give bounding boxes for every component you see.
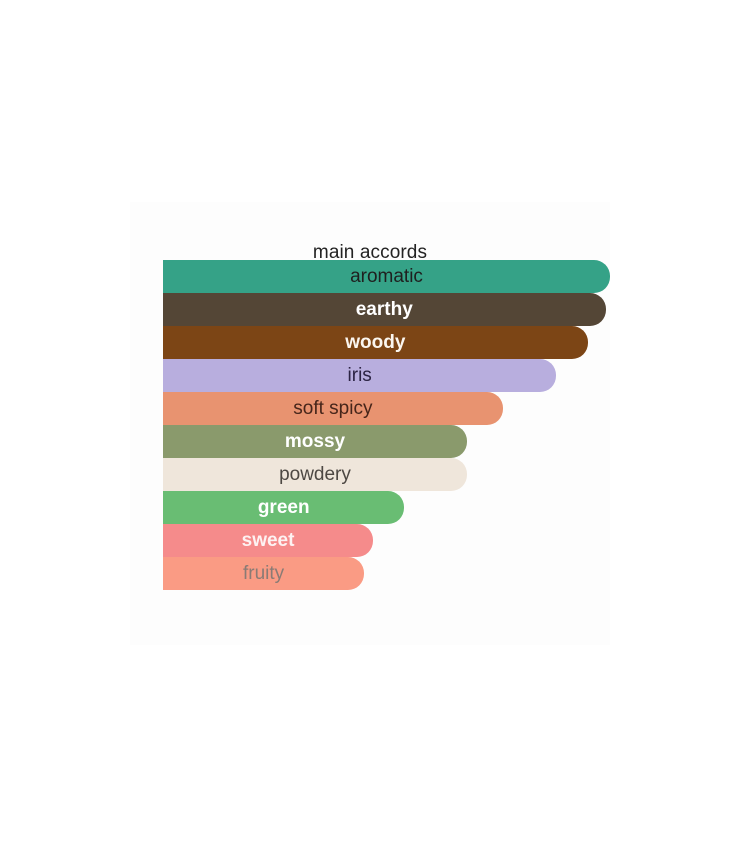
accord-bar[interactable]: earthy <box>163 293 606 326</box>
accord-bar[interactable]: soft spicy <box>163 392 503 425</box>
accord-bar-label: soft spicy <box>293 399 372 418</box>
accord-row: fruity <box>163 557 610 590</box>
main-accords-card: main accords aromaticearthywoodyirissoft… <box>130 202 610 645</box>
accord-row: sweet <box>163 524 610 557</box>
accord-bar-label: woody <box>345 333 405 352</box>
accord-row: green <box>163 491 610 524</box>
accord-bar-label: sweet <box>242 531 295 550</box>
accord-row: soft spicy <box>163 392 610 425</box>
accord-row: earthy <box>163 293 610 326</box>
accord-bar[interactable]: woody <box>163 326 588 359</box>
accord-bar[interactable]: fruity <box>163 557 364 590</box>
accords-bar-list: aromaticearthywoodyirissoft spicymossypo… <box>163 260 610 590</box>
accord-bar-label: aromatic <box>350 267 423 286</box>
accord-bar[interactable]: sweet <box>163 524 373 557</box>
accord-bar-label: earthy <box>356 300 413 319</box>
accord-row: iris <box>163 359 610 392</box>
page-root: main accords aromaticearthywoodyirissoft… <box>0 0 740 846</box>
accord-bar[interactable]: iris <box>163 359 556 392</box>
accord-bar[interactable]: aromatic <box>163 260 610 293</box>
accord-bar[interactable]: powdery <box>163 458 467 491</box>
accord-bar-label: green <box>258 498 310 517</box>
accord-row: mossy <box>163 425 610 458</box>
accord-row: woody <box>163 326 610 359</box>
accord-row: powdery <box>163 458 610 491</box>
accord-row: aromatic <box>163 260 610 293</box>
accord-bar-label: mossy <box>285 432 345 451</box>
accord-bar[interactable]: mossy <box>163 425 467 458</box>
accord-bar-label: powdery <box>279 465 351 484</box>
accord-bar-label: iris <box>348 366 372 385</box>
accord-bar[interactable]: green <box>163 491 404 524</box>
accord-bar-label: fruity <box>243 564 284 583</box>
